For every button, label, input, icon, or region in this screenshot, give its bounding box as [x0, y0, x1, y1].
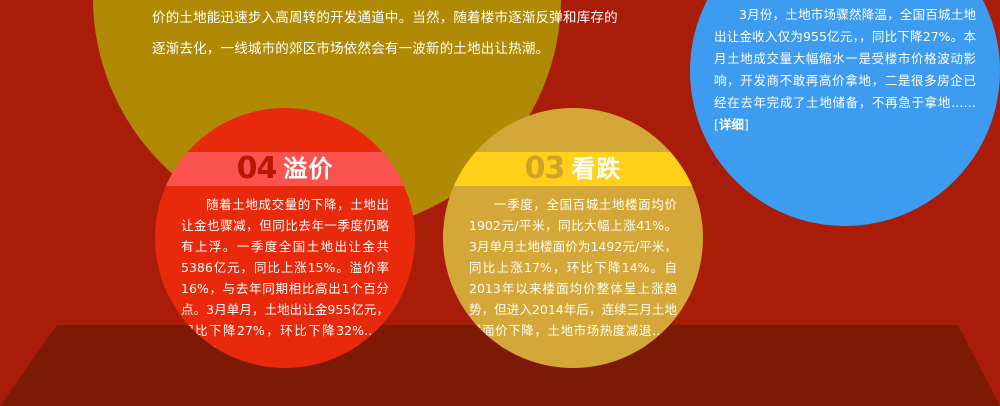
card-blue-more-close: ]	[744, 117, 749, 132]
card-03-body: 一季度，全国百城土地楼面均价1902元/平米，同比大幅上涨41%。3月单月土地楼…	[443, 194, 703, 362]
card-03-more-link[interactable]: 详细	[474, 344, 499, 359]
card-blue-more-link[interactable]: 详细	[719, 117, 744, 132]
top-paragraph-line-1: 价的土地能迅速步入高周转的开发通道中。当然，随着楼市逐渐反弹和库存的	[152, 3, 692, 34]
top-paragraph-line-2: 逐渐去化，一线城市的郊区市场依然会有一波新的土地出让热潮。	[152, 34, 692, 65]
card-03-more-close: ]	[499, 344, 504, 359]
card-04-number: 04	[237, 154, 277, 184]
infographic-stage: 价的土地能迅速步入高周转的开发通道中。当然，随着楼市逐渐反弹和库存的 逐渐去化，…	[0, 0, 1000, 406]
top-paragraph: 价的土地能迅速步入高周转的开发通道中。当然，随着楼市逐渐反弹和库存的 逐渐去化，…	[152, 3, 692, 65]
card-03-bearish: 03 看跌 一季度，全国百城土地楼面均价1902元/平米，同比大幅上涨41%。3…	[443, 108, 703, 368]
card-blue-body: 3月份，土地市场骤然降温，全国百城土地出让金收入仅为955亿元，，同比下降27%…	[690, 4, 1000, 136]
card-04-body-text: 随着土地成交量的下降，土地出让金也骤减，但同比去年一季度仍略有上浮。一季度全国土…	[181, 197, 389, 338]
card-03-header: 03 看跌	[443, 152, 703, 186]
card-04-premium: 04 溢价 随着土地成交量的下降，土地出让金也骤减，但同比去年一季度仍略有上浮。…	[155, 108, 415, 368]
card-04-more-close: ]	[211, 344, 216, 359]
card-04-title: 溢价	[283, 157, 333, 181]
card-03-number: 03	[525, 154, 565, 184]
card-04-header: 04 溢价	[155, 152, 415, 186]
card-03-body-text: 一季度，全国百城土地楼面均价1902元/平米，同比大幅上涨41%。3月单月土地楼…	[469, 197, 677, 338]
card-04-more-link[interactable]: 详细	[186, 344, 211, 359]
card-04-body: 随着土地成交量的下降，土地出让金也骤减，但同比去年一季度仍略有上浮。一季度全国土…	[155, 194, 415, 362]
card-blue-land-revenue: 3月份，土地市场骤然降温，全国百城土地出让金收入仅为955亿元，，同比下降27%…	[690, 0, 1000, 226]
card-blue-body-text: 3月份，土地市场骤然降温，全国百城土地出让金收入仅为955亿元，，同比下降27%…	[714, 7, 976, 110]
card-03-title: 看跌	[571, 157, 621, 181]
